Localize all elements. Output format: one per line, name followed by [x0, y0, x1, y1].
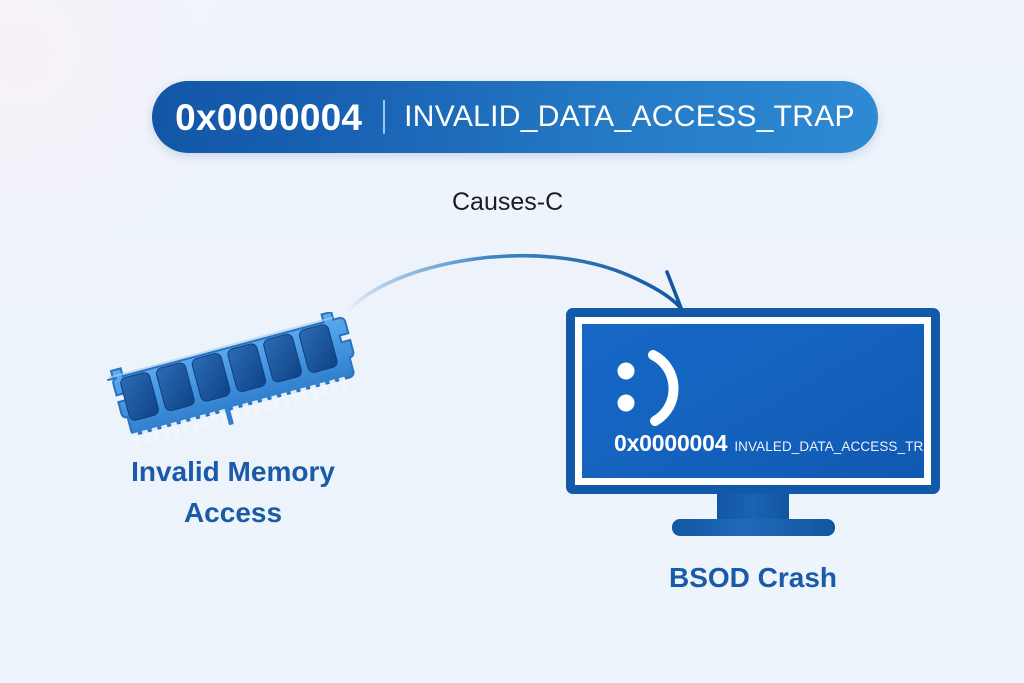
desktop-monitor-icon: 0x0000004 INVALED_DATA_ACCESS_TRAP: [566, 308, 940, 536]
cause-node-label-line2: Access: [60, 493, 406, 534]
bsod-screen: 0x0000004 INVALED_DATA_ACCESS_TRAP: [582, 324, 924, 478]
effect-node-label: BSOD Crash: [582, 558, 924, 597]
pill-divider: [383, 100, 385, 134]
error-code-pill: 0x0000004 INVALID_DATA_ACCESS_TRAP: [152, 81, 878, 153]
bsod-error-code: 0x0000004: [614, 430, 727, 457]
monitor-bezel: 0x0000004 INVALED_DATA_ACCESS_TRAP: [566, 308, 940, 494]
diagram-canvas: 0x0000004 INVALID_DATA_ACCESS_TRAP Cause…: [0, 0, 1024, 683]
sad-face-icon: [613, 350, 695, 426]
cause-node-label-line1: Invalid Memory: [60, 452, 406, 493]
monitor-stand-base: [672, 519, 835, 536]
ram-memory-module-icon: [98, 312, 366, 452]
bsod-error-line: 0x0000004 INVALED_DATA_ACCESS_TRAP: [614, 430, 924, 457]
cause-node-label: Invalid Memory Access: [60, 452, 406, 533]
error-name-text: INVALID_DATA_ACCESS_TRAP: [404, 102, 855, 132]
relation-label: Causes-C: [452, 188, 563, 217]
error-code-text: 0x0000004: [175, 99, 362, 136]
bsod-error-name: INVALED_DATA_ACCESS_TRAP: [734, 439, 924, 454]
